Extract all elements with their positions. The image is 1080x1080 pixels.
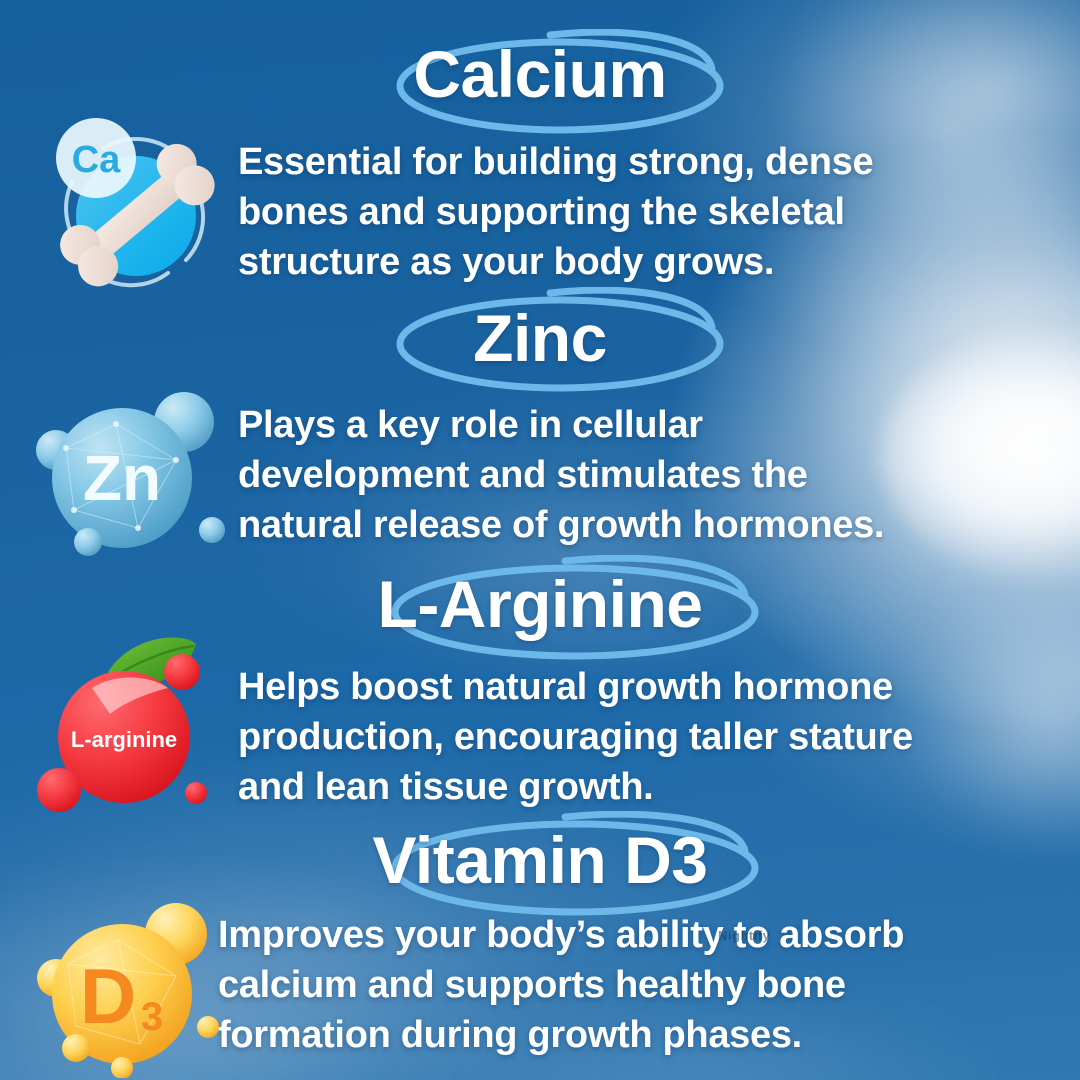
heading-zinc-label: Zinc	[433, 300, 647, 376]
heading-l-arginine-label: L-Arginine	[338, 566, 743, 642]
zinc-sphere-text: Zn	[83, 442, 161, 514]
heading-l-arginine: L-Arginine	[0, 566, 1080, 642]
section-vitamin-d3: D 3 Improves your body’s ability to abso…	[26, 888, 1036, 1078]
vitamin-d3-droplet-icon: D 3	[26, 888, 222, 1078]
l-arginine-bubble-bottom-right	[185, 782, 207, 804]
zinc-body-text: Plays a key role in cellular development…	[238, 400, 938, 550]
l-arginine-body-text: Helps boost natural growth hormone produ…	[238, 662, 948, 812]
heading-calcium: Calcium	[0, 36, 1080, 112]
l-arginine-bubble-top	[164, 654, 200, 690]
d3-bubble-right	[197, 1016, 219, 1038]
section-zinc: Zn Plays a key role in cellular developm…	[26, 378, 1036, 563]
zinc-bubble-bottom-left	[74, 528, 102, 556]
d3-sphere-text-main: D	[80, 952, 136, 1040]
heading-vitamin-d3-label: Vitamin D3	[333, 822, 748, 898]
zinc-bubble-bottom-right	[199, 517, 225, 543]
heading-zinc: Zinc	[0, 300, 1080, 376]
section-l-arginine: L-arginine Helps boost natural growth ho…	[36, 630, 1046, 815]
l-arginine-bubble-bottom-left	[37, 768, 81, 812]
calcium-body-text: Essential for building strong, dense bon…	[238, 137, 928, 287]
zinc-molecule-icon: Zn	[26, 378, 226, 563]
l-arginine-sphere-text: L-arginine	[71, 727, 177, 752]
infographic-canvas: Calcium	[0, 0, 1080, 1080]
calcium-bone-icon: Ca	[36, 110, 226, 295]
heading-calcium-label: Calcium	[373, 36, 706, 112]
calcium-ca-bubble-text: Ca	[72, 139, 121, 181]
vitamin-d3-body-text: Improves your body’s ability to absorb c…	[218, 910, 948, 1060]
section-calcium: Ca Essential for building strong, dense …	[36, 110, 1046, 295]
d3-bubble-bottom-left	[62, 1034, 90, 1062]
l-arginine-capsule-icon: L-arginine	[36, 630, 226, 815]
d3-sphere-text-sub: 3	[141, 995, 163, 1039]
heading-vitamin-d3: Vitamin D3	[0, 822, 1080, 898]
d3-bubble-bottom	[111, 1057, 133, 1078]
